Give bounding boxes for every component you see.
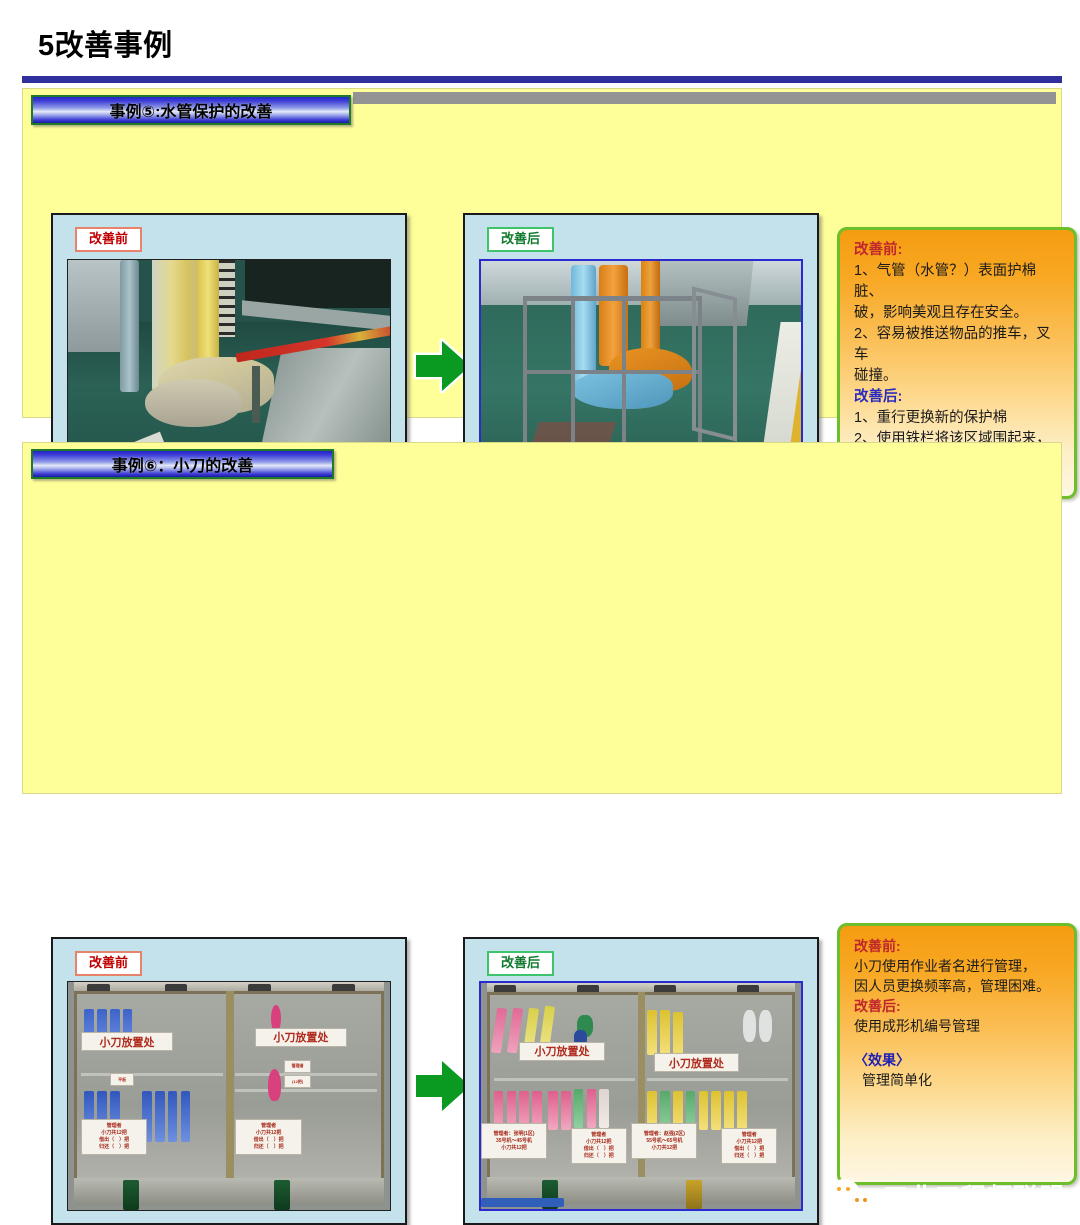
example-banner-6: 事例⑥：小刀的改善 [31,449,334,479]
watermark: 工业工程师联盟 [829,1178,1065,1214]
photo-sign: 管理者小刀共12把借出（ ）把归还（ ）把 [81,1119,147,1155]
before-photo-block-6: 改善前 [51,937,407,1225]
photo-sign: 管理者 [284,1060,312,1073]
photo-sign: 管理者：张明(1区)35号机～45号机小刀共12把 [481,1123,547,1159]
after-label-5: 改善后 [487,227,554,252]
wechat-icon [829,1179,875,1213]
note-spacer-6 [854,1036,1062,1050]
note-after-head-5: 改善后: [854,387,1062,408]
photo-sign: 管理者小刀共12把借出（ ）把归还（ ）把 [235,1119,301,1155]
page-title: 5改善事例 [38,22,173,64]
note-effect-head-6: 〈效果〉 [854,1050,1062,1070]
example-card-6: 事例⑥：小刀的改善 改善前 [22,442,1062,794]
photo-sign: 小刀放置处 [654,1053,739,1072]
note-panel-6: 改善前: 小刀使用作业者名进行管理， 因人员更换频率高，管理困难。 改善后: 使… [837,923,1077,1185]
note-before-head-5: 改善前: [854,240,1062,261]
after-photo-6: 小刀放置处 小刀放置处 管理者：张明(1区)35号机～45号机小刀共12把 管理… [479,981,803,1211]
before-label-5: 改善前 [75,227,142,252]
note-before-line-5-3: 2、容易被推送物品的推车，叉车 [854,324,1062,366]
example-banner-5-text: 事例⑤:水管保护的改善 [110,98,273,122]
note-after-head-6: 改善后: [854,996,1062,1016]
photo-sign: 管理者小刀共12把借出（ ）把归还（ ）把 [571,1128,627,1164]
after-label-6: 改善后 [487,951,554,976]
photo-sign: 管理者小刀共12把借出（ ）把归还（ ）把 [721,1128,777,1164]
photo-sign: 小刀放置处 [255,1028,347,1047]
note-effect-body-6: 管理简单化 [854,1070,1062,1090]
photo-sign: 管理者：赵强(2区)55号机～65号机小刀共12把 [631,1123,697,1159]
example-banner-5: 事例⑤:水管保护的改善 [31,95,351,125]
title-divider [22,76,1062,83]
note-after-line-5-1: 1、重行更换新的保护棉 [854,408,1062,429]
note-before-line-5-4: 碰撞。 [854,366,1062,387]
banner-shadow-bar [353,92,1056,104]
photo-sign: 小刀放置处 [519,1042,604,1061]
before-label-6: 改善前 [75,951,142,976]
photo-sign: 小刀放置处 [81,1032,173,1051]
example-card-5: 事例⑤:水管保护的改善 改善前 2011/02/17 09:33 [22,88,1062,418]
note-before-line-6-2: 因人员更换频率高，管理困难。 [854,976,1062,996]
note-before-line-6-1: 小刀使用作业者名进行管理， [854,956,1062,976]
example-banner-6-text: 事例⑥：小刀的改善 [112,452,254,476]
after-photo-block-6: 改善后 [463,937,819,1225]
watermark-text: 工业工程师联盟 [883,1178,1065,1214]
note-after-line-6-1: 使用成形机编号管理 [854,1016,1062,1036]
photo-sign: 平板 [110,1073,135,1086]
note-before-head-6: 改善前: [854,936,1062,956]
before-photo-6: 小刀放置处 小刀放置处 平板 管理者 (12把) 管理者小刀共12把借出（ ）把… [67,981,391,1211]
photo-sign: (12把) [284,1075,312,1088]
note-before-line-5-2: 破，影响美观且存在安全。 [854,303,1062,324]
note-before-line-5-1: 1、气管（水管？）表面护棉脏、 [854,261,1062,303]
